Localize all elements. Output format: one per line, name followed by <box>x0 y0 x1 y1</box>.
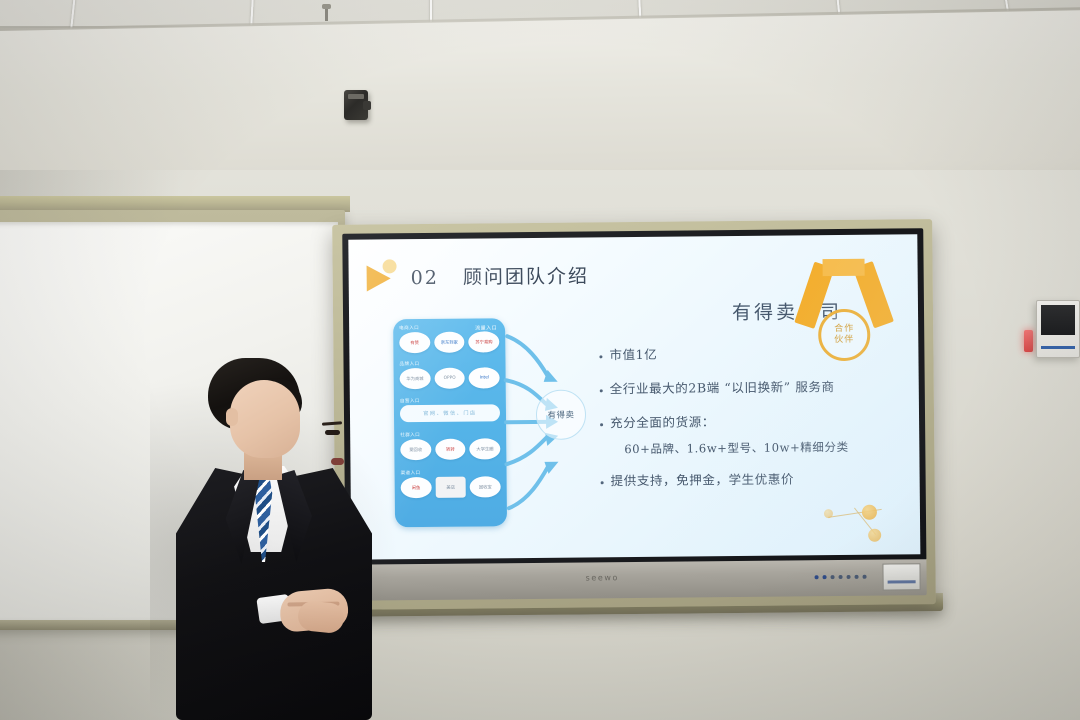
wall-camera-icon <box>344 90 368 120</box>
group-label: 自营入口 <box>400 397 500 404</box>
classroom-scene: 02 顾问团队介绍 有得卖公司 合作 伙伴 <box>0 0 1080 720</box>
brand-chip: 华为商城 <box>400 368 431 389</box>
bullet-text: 提供支持，免押金，学生优惠价 <box>611 471 795 490</box>
display-ports[interactable] <box>815 575 867 579</box>
sprinkler-head <box>322 4 331 22</box>
speaker-strip <box>1041 346 1075 349</box>
bullet-text: 充分全面的货源： <box>610 414 715 432</box>
section-number: 02 <box>411 266 439 288</box>
display-bezel: 02 顾问团队介绍 有得卖公司 合作 伙伴 <box>342 228 926 566</box>
display-control-panel[interactable] <box>882 563 920 590</box>
speaker-vent <box>1041 305 1075 335</box>
list-item: 提供支持，免押金，学生优惠价 <box>601 470 921 490</box>
bullet-subline: 60+品牌、1.6w+型号、10w+精细分类 <box>624 438 920 457</box>
brand-chip: 回收宝 <box>470 476 501 497</box>
brand-chip: 爱回收 <box>400 439 431 460</box>
hub-node: 有得卖 <box>536 389 586 439</box>
face <box>230 380 300 458</box>
decorative-dots <box>822 490 909 547</box>
eyebrow <box>322 421 342 425</box>
list-item: 全行业最大的2B端 “以旧换新” 服务商 <box>600 378 921 398</box>
presentation-slide: 02 顾问团队介绍 有得卖公司 合作 伙伴 <box>348 234 920 559</box>
group-label: 电商入口 <box>399 324 499 331</box>
wall-speaker <box>1036 300 1080 358</box>
bullet-list: 市值1亿 全行业最大的2B端 “以旧换新” 服务商 充分全面的货源： 60+品牌… <box>599 344 920 507</box>
interactive-display[interactable]: 02 顾问团队介绍 有得卖公司 合作 伙伴 <box>332 219 936 610</box>
group-label: 社群入口 <box>400 431 500 438</box>
brand-chip: 闲鱼 <box>401 477 432 498</box>
self-operated-pill: 官网、微信、门店 <box>400 404 500 422</box>
slide-title-block: 02 顾问团队介绍 <box>367 259 590 291</box>
group-label: 渠道入口 <box>401 469 501 476</box>
list-item: 充分全面的货源： <box>600 412 920 432</box>
brand-chip: 有赞 <box>399 332 430 353</box>
group-label: 品牌入口 <box>399 360 499 367</box>
display-chin: seewo <box>345 559 926 601</box>
bullet-text: 全行业最大的2B端 “以旧换新” 服务商 <box>610 379 835 398</box>
list-item: 市值1亿 <box>599 344 920 364</box>
eye <box>325 430 340 435</box>
brand-chip: 美店 <box>435 477 466 498</box>
brand-chip: Intel <box>469 367 500 388</box>
mouth <box>331 458 344 465</box>
section-title: 顾问团队介绍 <box>463 265 589 288</box>
brand-chip: 苏宁易购 <box>469 331 500 352</box>
brand-chip: OPPO <box>434 368 465 389</box>
presenter <box>172 358 382 720</box>
display-brand-logo: seewo <box>586 573 620 582</box>
brand-chip: 京东到家 <box>434 332 465 353</box>
ear <box>226 408 238 426</box>
page-title: 02 顾问团队介绍 <box>411 261 590 290</box>
bullet-text: 市值1亿 <box>609 347 657 364</box>
triangle-marker-icon <box>367 261 401 291</box>
display-screen[interactable]: 02 顾问团队介绍 有得卖公司 合作 伙伴 <box>348 234 920 559</box>
indicator-led-icon <box>1024 330 1033 352</box>
brand-chip: 大学生圈 <box>470 438 501 459</box>
entry-channels-panel: 流量入口 电商入口 有赞 京东到家 苏宁易购 品牌入口 <box>393 318 507 527</box>
medal-line1: 合作 <box>834 324 854 335</box>
brand-chip: 转转 <box>435 439 466 460</box>
